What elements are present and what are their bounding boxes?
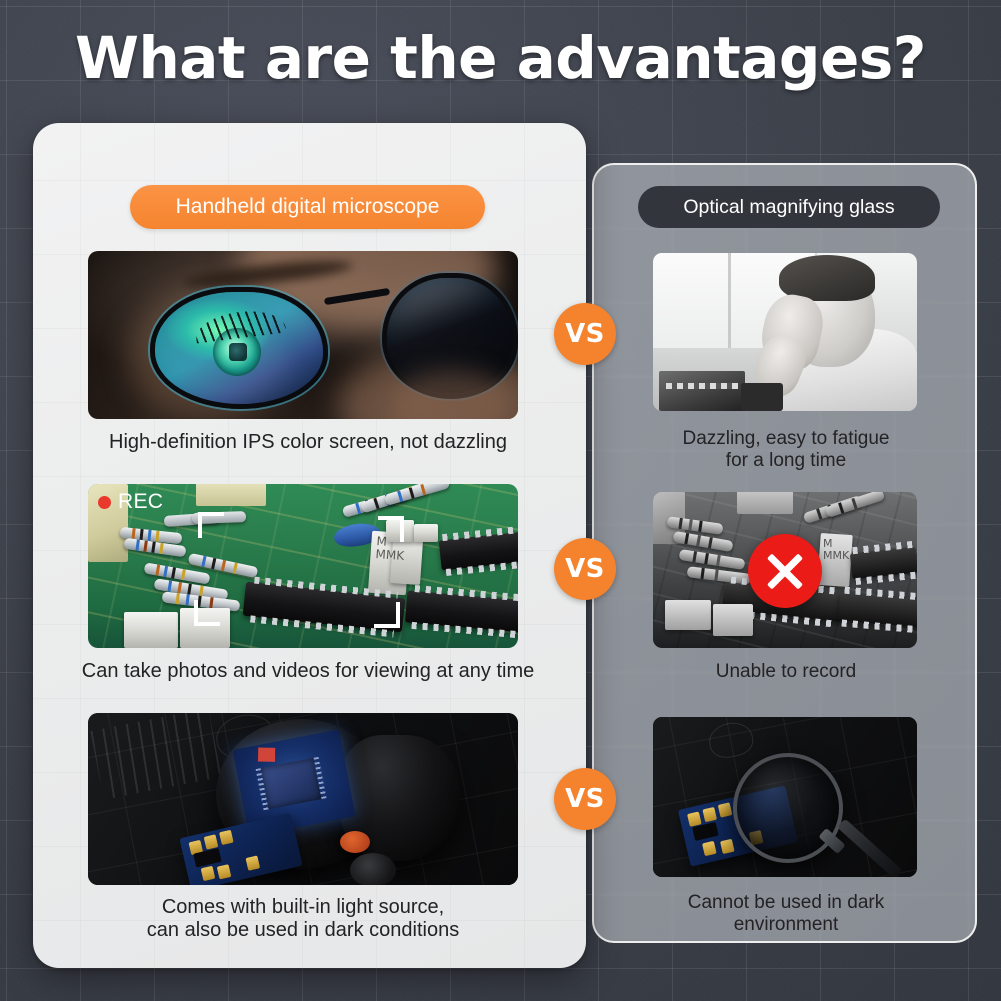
image-tired-man — [653, 253, 917, 411]
focus-bracket-top-left — [198, 512, 224, 538]
focus-bracket-bottom-left — [194, 600, 220, 626]
page-title: What are the advantages? — [0, 27, 1001, 91]
white-connector-gray — [713, 604, 753, 636]
magnifier-lens — [733, 753, 843, 863]
tired-man-art — [653, 253, 917, 411]
focus-bracket-top-right — [378, 516, 404, 542]
screen-chip-image — [260, 758, 321, 810]
record-button[interactable] — [340, 831, 370, 853]
vs-badge-row1: VS — [554, 303, 616, 365]
screen-red-detail — [258, 747, 276, 761]
focus-bracket-bottom-right — [374, 602, 400, 628]
bench-device — [659, 371, 745, 411]
advantages-infographic: What are the advantages? Handheld digita… — [0, 0, 1001, 1001]
caption-right-row2: Unable to record — [640, 661, 932, 683]
vs-badge-row2: VS — [554, 538, 616, 600]
rec-indicator: REC — [98, 490, 163, 514]
image-circuit-board-grayscale: MMMK — [653, 492, 917, 648]
beige-component-2 — [196, 484, 266, 506]
caption-left-row3: Comes with built-in light source, can al… — [88, 896, 518, 942]
white-connector — [124, 612, 178, 648]
caption-right-row1: Dazzling, easy to fatigue for a long tim… — [640, 428, 932, 471]
image-circuit-board-color: MMMK REC — [88, 484, 518, 648]
gray-component — [737, 492, 793, 514]
caption-left-row2: Can take photos and videos for viewing a… — [28, 660, 588, 683]
image-digital-microscope-device — [88, 713, 518, 885]
desk-object — [741, 383, 783, 411]
image-eye-with-glasses — [88, 251, 518, 419]
dip-chip-gray — [838, 592, 917, 627]
dip-chip — [439, 532, 518, 571]
rec-dot-icon — [98, 496, 111, 509]
pill-optical-magnifying-glass[interactable]: Optical magnifying glass — [638, 186, 940, 228]
white-connector — [414, 524, 438, 542]
caption-right-row3: Cannot be used in dark environment — [640, 892, 932, 935]
dip-chip-gray — [850, 547, 917, 580]
pupil — [229, 343, 247, 361]
white-connector-gray — [665, 600, 711, 630]
knob — [350, 853, 396, 885]
pill-handheld-digital-microscope[interactable]: Handheld digital microscope — [130, 185, 485, 229]
caption-left-row1: High-definition IPS color screen, not da… — [58, 431, 558, 454]
vs-badge-row3: VS — [554, 768, 616, 830]
rec-label: REC — [118, 490, 163, 514]
capacitor-marking-gray: MMMK — [823, 538, 849, 561]
dip-chip — [405, 590, 518, 633]
eyeglass-lens-left — [150, 287, 328, 409]
blocked-x-icon — [748, 534, 822, 608]
eye-photo-art — [88, 251, 518, 419]
image-magnifying-glass-dark — [653, 717, 917, 877]
